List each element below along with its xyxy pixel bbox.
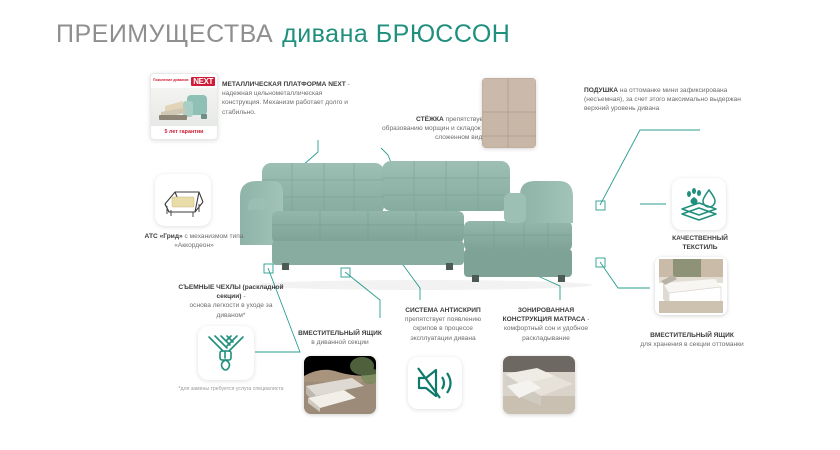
- mute-speaker-icon: [415, 365, 455, 401]
- badge-next-label: NEXT: [191, 77, 215, 86]
- feature-covers-footnote: *для замены требуется услуга специалиста: [176, 386, 286, 393]
- badge-chair-photo: [151, 88, 217, 126]
- feature-mattress-photo: [503, 356, 575, 414]
- feature-box-ottoman-photo: [655, 257, 727, 315]
- badge-brand-text: Поколение диванов: [153, 79, 188, 83]
- next-generation-badge: Поколение диванов NEXT 5 лет гарантии: [150, 73, 218, 140]
- feature-box-sofa-photo: [304, 356, 376, 414]
- feature-antisqueak-icon-tile: [408, 357, 462, 409]
- feature-mattress-heading: ЗОНИРОВАННАЯ КОНСТРУКЦИЯ МАТРАСА: [503, 307, 586, 323]
- feature-pillow-text: ПОДУШКА на оттоманке мини зафиксирована …: [584, 86, 760, 114]
- feature-box-ottoman-body: для хранения в секции оттоманки: [640, 341, 744, 348]
- ottoman-storage-box-photo: [655, 257, 727, 315]
- feature-covers-icon-tile: [198, 326, 254, 380]
- badge-warranty-text: 5 лет гарантии: [151, 126, 217, 138]
- feature-platform-heading: МЕТАЛЛИЧЕСКАЯ ПЛАТФОРМА NEXT: [222, 81, 346, 88]
- feature-textile-text: КАЧЕСТВЕННЫЙ ТЕКСТИЛЬ: [654, 234, 746, 252]
- feature-textile-icon-tile: [672, 178, 726, 230]
- sofa-storage-box-photo: [304, 356, 376, 414]
- feature-covers-heading: СЪЕМНЫЕ ЧЕХЛЫ (раскладной секции): [178, 284, 283, 300]
- feature-quilting-heading: СТЁЖКА: [416, 116, 444, 123]
- feature-pillow-heading: ПОДУШКА: [584, 87, 618, 94]
- feature-box-sofa-heading: ВМЕСТИТЕЛЬНЫЙ ЯЩИК: [298, 330, 382, 337]
- infographic-page: ПРЕИМУЩЕСТВАдивана БРЮССОН: [0, 0, 840, 450]
- feature-box-ottoman-text: ВМЕСТИТЕЛЬНЫЙ ЯЩИК для хранения в секции…: [640, 331, 744, 349]
- feature-quilting-text: СТЁЖКА препятствует образованию морщин и…: [376, 115, 486, 143]
- feature-atc-icon-tile: [155, 174, 211, 226]
- unfolded-sofa-photo: [503, 356, 575, 414]
- feature-quilting-photo: [482, 78, 536, 148]
- armchair-illustration: [157, 92, 211, 122]
- page-title-primary: ПРЕИМУЩЕСТВА: [56, 20, 273, 48]
- page-title: ПРЕИМУЩЕСТВАдивана БРЮССОН: [56, 20, 510, 49]
- feature-covers-dash: -: [241, 293, 245, 300]
- feature-box-ottoman-heading: ВМЕСТИТЕЛЬНЫЙ ЯЩИК: [650, 332, 734, 339]
- zipper-icon: [203, 331, 249, 375]
- feature-atc-body: с механизмом типа «Аккордеон»: [174, 233, 243, 249]
- feature-textile-heading-line1: КАЧЕСТВЕННЫЙ: [672, 235, 728, 242]
- feature-antisqueak-heading: СИСТЕМА АНТИСКРИП: [405, 307, 481, 314]
- feature-box-sofa-text: ВМЕСТИТЕЛЬНЫЙ ЯЩИК в диванной секции: [292, 329, 388, 347]
- feature-textile-heading-line2: ТЕКСТИЛЬ: [682, 244, 717, 251]
- water-repellent-fabric-icon: [678, 185, 720, 223]
- bed-frame-grid-icon: [159, 180, 207, 220]
- feature-antisqueak-body: препятствует появлению скрипов в процесс…: [405, 316, 481, 341]
- feature-covers-body: основа легкости в уходе за диваном*: [190, 302, 273, 318]
- feature-mattress-text: ЗОНИРОВАННАЯ КОНСТРУКЦИЯ МАТРАСА - комфо…: [496, 306, 596, 343]
- feature-covers-text: СЪЕМНЫЕ ЧЕХЛЫ (раскладной секции) - осно…: [176, 283, 286, 320]
- feature-platform-text: МЕТАЛЛИЧЕСКАЯ ПЛАТФОРМА NEXT - надежная …: [222, 80, 354, 117]
- feature-platform-body: надежная цельнометаллическая конструкция…: [222, 90, 348, 115]
- feature-atc-text: АТС «Грид» с механизмом типа «Аккордеон»: [138, 232, 250, 250]
- feature-atc-heading: АТС «Грид»: [145, 233, 183, 240]
- sofa-image: [236, 155, 608, 300]
- feature-antisqueak-text: СИСТЕМА АНТИСКРИП препятствует появлению…: [396, 306, 490, 343]
- quilted-cushion-image: [482, 78, 536, 148]
- badge-header: Поколение диванов NEXT: [151, 74, 217, 88]
- page-title-secondary: дивана БРЮССОН: [282, 20, 510, 48]
- feature-mattress-body: комфортный сон и удобное раскладывание: [504, 325, 588, 341]
- feature-platform-dash: -: [346, 81, 350, 88]
- feature-box-sofa-body: в диванной секции: [311, 339, 368, 346]
- feature-mattress-dash: -: [585, 316, 589, 323]
